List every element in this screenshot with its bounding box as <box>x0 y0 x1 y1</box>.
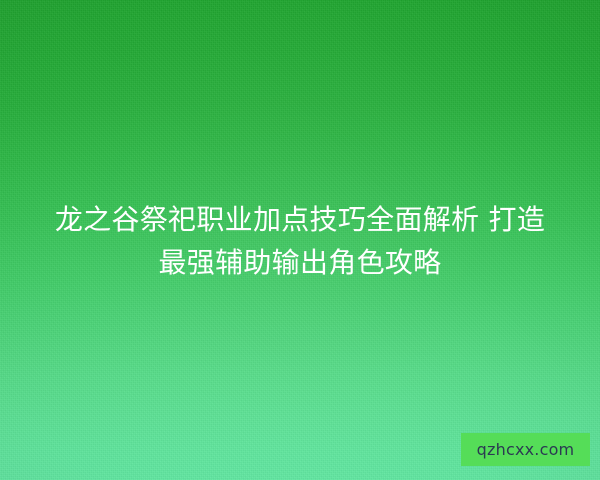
title-line-1: 龙之谷祭祀职业加点技巧全面解析 打造 <box>0 198 600 241</box>
watermark-label: qzhcxx.com <box>477 442 575 458</box>
title-line-2: 最强辅助输出角色攻略 <box>0 241 600 284</box>
poster-image: 龙之谷祭祀职业加点技巧全面解析 打造 最强辅助输出角色攻略 qzhcxx.com <box>0 0 600 480</box>
watermark-badge: qzhcxx.com <box>461 433 590 466</box>
poster-title: 龙之谷祭祀职业加点技巧全面解析 打造 最强辅助输出角色攻略 <box>0 198 600 284</box>
